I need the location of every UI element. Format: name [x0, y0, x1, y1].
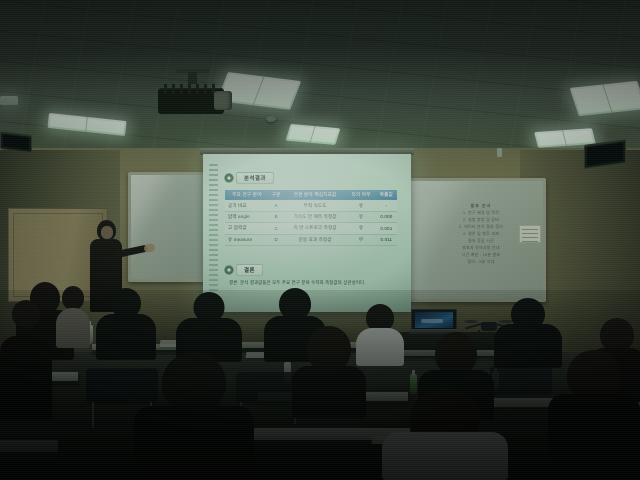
- table-cell: -: [376, 200, 397, 211]
- table-header-row: 주요 연구 분야 구분 연관 분야 핵심지표값 유의 여부 확률값: [225, 190, 397, 200]
- slide-section-heading-1: 분석결과: [225, 172, 274, 184]
- table-row: 고 압력값 C 지 반 스트로크 측정값 유 0.001: [225, 223, 397, 234]
- ceiling-shading: [0, 0, 640, 152]
- audience-member: [96, 288, 156, 360]
- table-cell: 0.011: [376, 234, 397, 245]
- audience-member: [134, 352, 254, 480]
- whiteboard-right: 발표 순서 1. 연구 배경 및 목적 2. 실험 방법 및 장비 3. 데이터…: [408, 178, 546, 302]
- slide-note-text: 결론: 분석 결과값들은 모두 주요 연구 분야 수치와 측정값의 상관성이다.: [229, 280, 399, 286]
- table-cell: C: [269, 223, 284, 234]
- table-cell: 압력 angle: [225, 211, 269, 222]
- projector-lens: [214, 91, 232, 110]
- whiteboard-notes: 발표 순서 1. 연구 배경 및 목적 2. 실험 방법 및 장비 3. 데이터…: [445, 203, 517, 265]
- table-cell: 부적 속도도: [284, 200, 347, 211]
- audience-member: [292, 326, 366, 418]
- audience-member: [548, 350, 640, 460]
- whiteboard-line: 질의 - 5분 이내: [467, 259, 494, 264]
- table-col-header: 확률값: [376, 190, 397, 200]
- whiteboard-line: 시간 배분 - 15분 발표: [462, 252, 501, 257]
- table-col-header: 연관 분야 핵심지표값: [284, 190, 347, 200]
- laptop-screen: [415, 312, 453, 328]
- table-cell: B: [269, 211, 284, 222]
- table-row: 공기 비교 A 부적 속도도 유 -: [225, 200, 397, 211]
- table-col-header: 주요 연구 분야: [225, 190, 269, 200]
- table-cell: D: [269, 234, 284, 245]
- slide-section-heading-2: 결론: [225, 264, 263, 276]
- slide-section-2-label: 결론: [236, 264, 263, 276]
- table-cell: A: [269, 200, 284, 211]
- whiteboard-line: 질의 응답 시간: [468, 238, 494, 243]
- whiteboard-line: 1. 연구 배경 및 목적: [463, 210, 499, 215]
- whiteboard-posted-note: [519, 225, 541, 243]
- ceiling: [0, 0, 640, 152]
- table-cell: 운동 효과 측정값: [284, 234, 347, 245]
- table-cell: 공기 비교: [225, 200, 269, 211]
- gear-icon: [225, 174, 233, 182]
- table-cell: 유 measure: [225, 234, 269, 245]
- whiteboard-line: 4. 결론 및 향후 과제: [463, 231, 499, 236]
- spiral-binding-decor: [209, 164, 218, 298]
- table-cell: 기속도 반 예측 측정값: [284, 211, 347, 222]
- table-row: 유 measure D 운동 효과 측정값 무 0.011: [225, 234, 397, 245]
- table-cell: 고 압력값: [225, 223, 269, 234]
- table-cell: 유: [346, 223, 375, 234]
- table-cell: 무: [346, 234, 375, 245]
- wall-speaker-left: [0, 131, 32, 153]
- slide-results-table: 주요 연구 분야 구분 연관 분야 핵심지표값 유의 여부 확률값 공기 비교 …: [225, 190, 397, 246]
- presenter-face: [101, 226, 113, 239]
- table-cell: 유: [346, 200, 375, 211]
- whiteboard-line: 발표자 유의사항 안내: [462, 245, 500, 250]
- whiteboard-line: 2. 실험 방법 및 장비: [463, 217, 499, 222]
- table-cell: 0.000: [376, 211, 397, 222]
- gear-icon: [225, 266, 233, 274]
- audience-member: [0, 300, 52, 420]
- table-row: 압력 angle B 기속도 반 예측 측정값 유 0.000: [225, 211, 397, 222]
- slide-section-1-label: 분석결과: [236, 172, 274, 184]
- audience-member: [56, 286, 90, 348]
- table-col-header: 구분: [269, 190, 284, 200]
- classroom-scene: 발표 순서 1. 연구 배경 및 목적 2. 실험 방법 및 장비 3. 데이터…: [0, 0, 640, 480]
- audience-member: [382, 388, 508, 480]
- table-cell: 지 반 스트로크 측정값: [284, 223, 347, 234]
- whiteboard-line: 3. 데이터 분석 결과 정리: [459, 224, 503, 229]
- smoke-detector: [266, 116, 276, 122]
- ceiling-projector: [158, 80, 232, 116]
- table-col-header: 유의 여부: [346, 190, 375, 200]
- desk-row3-left: [0, 440, 58, 452]
- table-cell: 유: [346, 211, 375, 222]
- whiteboard-title: 발표 순서: [471, 203, 492, 208]
- table-cell: 0.001: [376, 223, 397, 234]
